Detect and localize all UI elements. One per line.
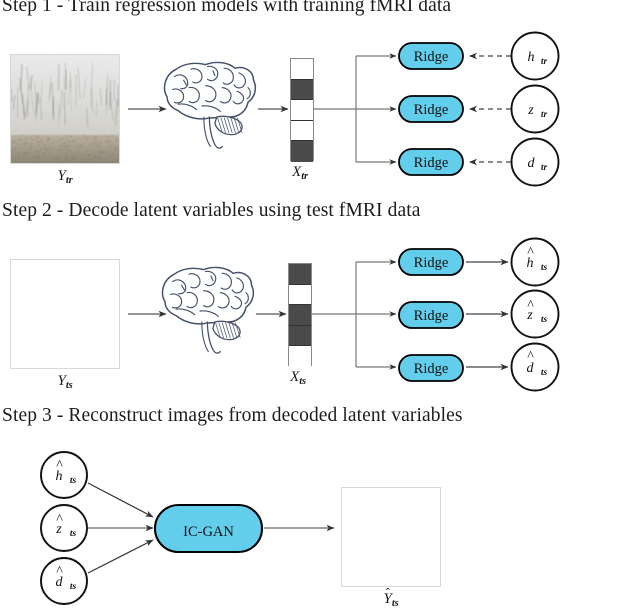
input-node-z-hat-ts: z ^ ts [41,505,87,551]
ridge-label: Ridge [414,155,449,171]
input-node-d-hat-ts: d ^ ts [41,558,87,604]
latent-subscript: ts [541,263,548,273]
latent-node-z-hat-ts: z ^ ts [512,291,559,338]
latent-symbol: h [528,50,535,65]
latent-subscript: tr [541,163,548,173]
latent-subscript: tr [541,57,548,67]
pipeline-figure: Step 1 - Train regression models with tr… [0,0,640,614]
ridge-label: Ridge [414,361,449,377]
input-subscript: ts [70,476,77,486]
latent-node-d-hat-ts: d ^ ts [512,344,559,391]
latent-subscript: ts [541,315,548,325]
latent-symbol: d [528,156,536,171]
arrow-h-to-generator [88,483,153,517]
ridge-model-1[interactable]: Ridge [399,249,463,275]
ridge-model-2[interactable]: Ridge [399,96,463,122]
ridge-label: Ridge [414,49,449,65]
ridge-model-2[interactable]: Ridge [399,302,463,328]
brain-icon [165,62,256,148]
latent-node-d-tr: d tr [512,139,559,186]
arrow-d-to-generator [88,540,153,573]
ridge-model-1[interactable]: Ridge [399,43,463,69]
step-3-graphics: h ^ ts z ^ ts d ^ ts IC-GAN [41,452,334,604]
input-subscript: ts [70,582,77,592]
latent-subscript: tr [541,110,548,120]
latent-subscript: ts [541,368,548,378]
latent-node-h-hat-ts: h ^ ts [512,239,559,286]
ridge-label: Ridge [414,308,449,324]
latent-symbol: z [527,103,534,118]
ridge-model-3[interactable]: Ridge [399,355,463,381]
ic-gan-generator[interactable]: IC-GAN [155,505,262,552]
input-subscript: ts [70,529,77,539]
diagram-vector-layer: Ridge Ridge Ridge h tr z [0,0,640,614]
input-node-h-hat-ts: h ^ ts [41,452,87,498]
ridge-label: Ridge [414,102,449,118]
latent-node-z-tr: z tr [512,86,559,133]
ic-gan-label: IC-GAN [183,524,234,540]
ridge-model-3[interactable]: Ridge [399,149,463,175]
brain-icon [163,267,254,353]
ridge-label: Ridge [414,255,449,271]
latent-node-h-tr: h tr [512,33,559,80]
